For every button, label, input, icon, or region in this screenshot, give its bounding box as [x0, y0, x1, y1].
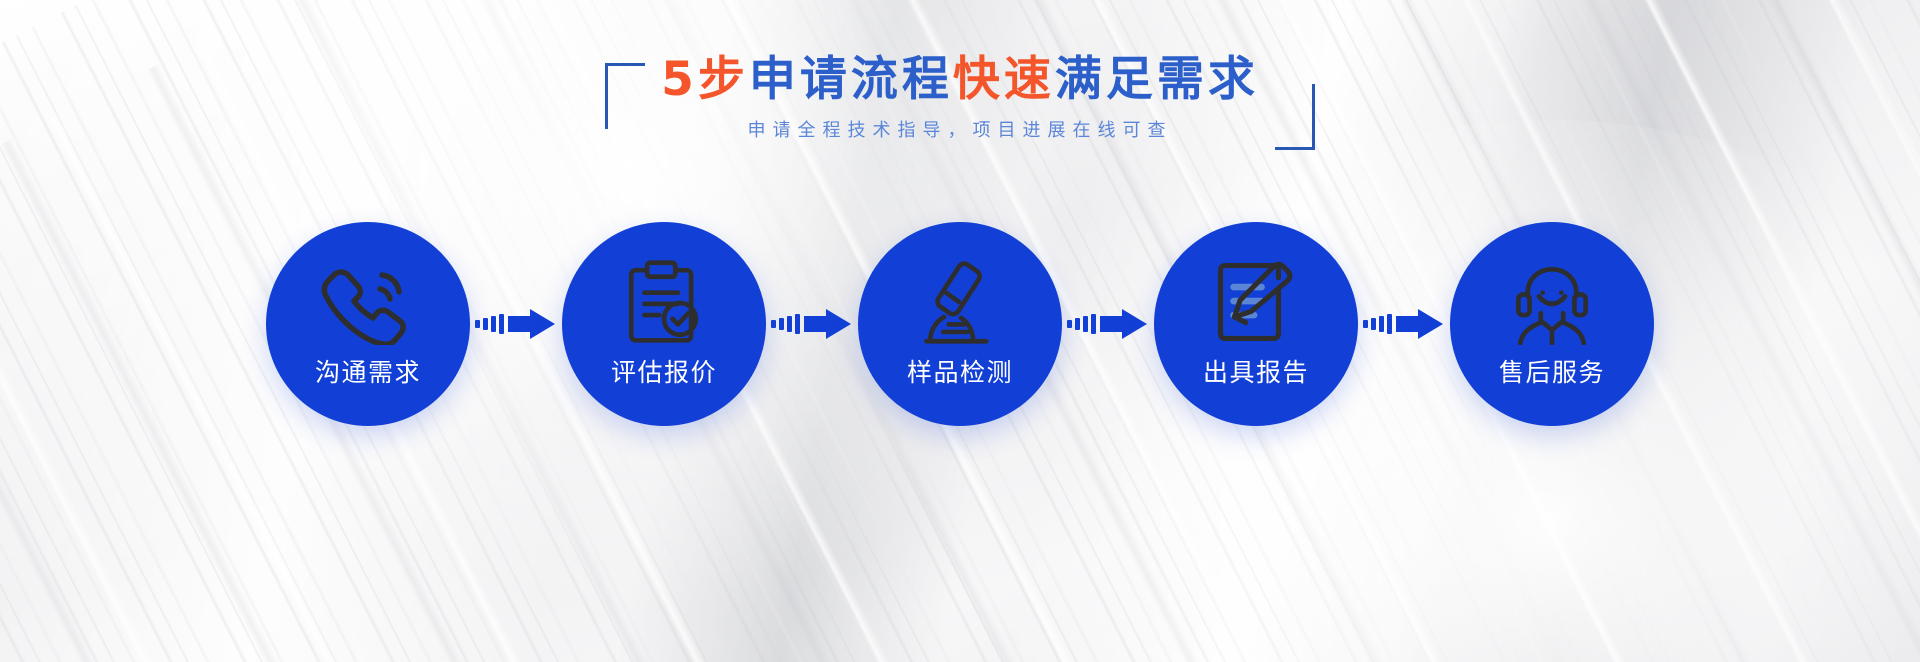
step-circle-1[interactable]: 沟通需求	[266, 222, 470, 426]
bracket-left-decoration	[605, 63, 645, 129]
promo-banner: 5步申请流程快速满足需求 申请全程技术指导，项目进展在线可查 沟通需求	[0, 0, 1920, 662]
headset-agent-icon	[1506, 259, 1598, 345]
microscope-icon	[914, 259, 1006, 345]
step-circle-5[interactable]: 售后服务	[1450, 222, 1654, 426]
page-title: 5步申请流程快速满足需求	[661, 52, 1259, 107]
clipboard-check-icon	[621, 259, 707, 345]
process-steps: 沟通需求	[0, 222, 1920, 426]
title-part-2: 申请流程	[749, 52, 953, 107]
title-part-3: 快速	[953, 52, 1055, 107]
step-circle-4[interactable]: 出具报告	[1154, 222, 1358, 426]
step-label-4: 出具报告	[1203, 353, 1309, 389]
step-circle-3[interactable]: 样品检测	[858, 222, 1062, 426]
connector-arrow-3	[1066, 309, 1150, 339]
document-pen-icon	[1210, 259, 1302, 345]
title-part-4: 满足需求	[1055, 52, 1259, 107]
connector-arrow-2	[770, 309, 854, 339]
step-label-3: 样品检测	[907, 353, 1013, 389]
phone-call-icon	[320, 259, 416, 345]
connector-arrow-4	[1362, 309, 1446, 339]
connector-arrow-1	[474, 309, 558, 339]
title-block: 5步申请流程快速满足需求 申请全程技术指导，项目进展在线可查	[605, 52, 1315, 142]
banner-header: 5步申请流程快速满足需求 申请全程技术指导，项目进展在线可查	[0, 52, 1920, 142]
step-circle-2[interactable]: 评估报价	[562, 222, 766, 426]
bracket-right-decoration	[1275, 84, 1315, 150]
step-label-2: 评估报价	[611, 353, 717, 389]
title-part-1: 5步	[661, 52, 749, 107]
page-subtitle: 申请全程技术指导，项目进展在线可查	[747, 116, 1172, 142]
step-label-1: 沟通需求	[315, 353, 421, 389]
step-label-5: 售后服务	[1499, 353, 1605, 389]
